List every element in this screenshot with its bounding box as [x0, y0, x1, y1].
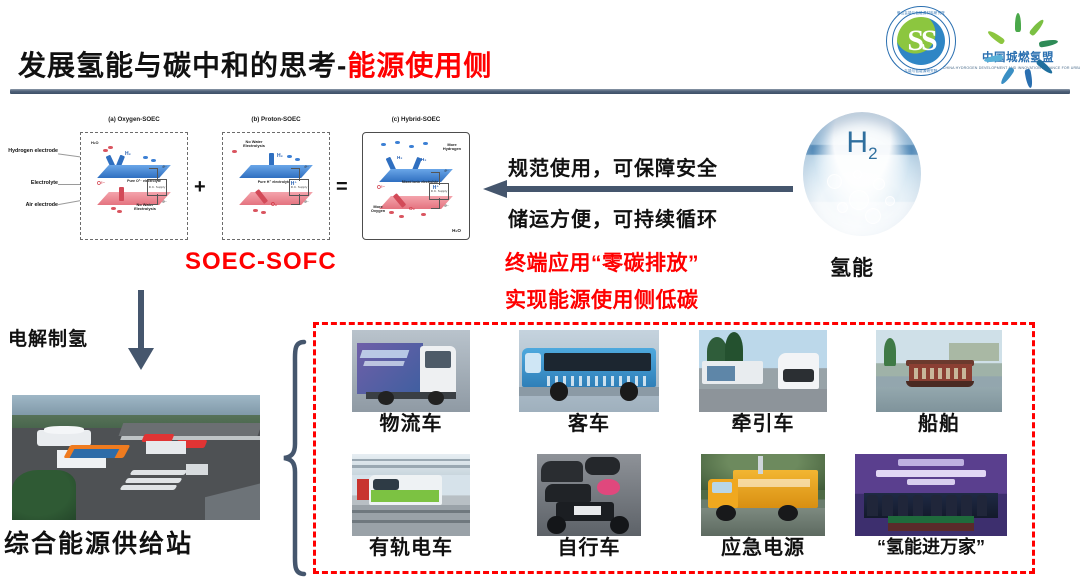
page-title: 发展氢能与碳中和的思考-能源使用侧: [18, 44, 492, 84]
operator-equals: =: [336, 176, 348, 199]
station-caption: 综合能源供给站: [4, 524, 193, 560]
panel-c-note-right: More Hydrogen: [439, 143, 465, 152]
panel-a-h2o-label: H₂O: [91, 141, 99, 145]
slide-root: 佛山氢能与氨能源材料研究院 氢能与氨能源研究院 SS 中国城燃氢盟 CHINA …: [0, 0, 1080, 581]
hydrogen-sphere-icon: H2: [803, 112, 921, 236]
red-callout-1: 终端应用“零碳排放”: [505, 247, 699, 277]
institute-seal-logo: 佛山氢能与氨能源材料研究院 氢能与氨能源研究院 SS: [886, 6, 956, 76]
application-item[interactable]: 船舶: [850, 330, 1028, 434]
operator-plus: +: [194, 176, 206, 199]
page-title-black: 发展氢能与碳中和的思考-: [18, 50, 347, 81]
logistics-truck-image: [352, 330, 470, 412]
soec-panel-a-caption: (a) Oxygen-SOEC: [80, 116, 188, 123]
application-item[interactable]: 物流车: [322, 330, 500, 434]
flow-text-top: 规范使用，可保障安全: [508, 152, 718, 181]
seal-arc-text-top: 佛山氢能与氨能源材料研究院: [886, 10, 956, 15]
application-item[interactable]: 牵引车: [674, 330, 852, 434]
page-title-red: 能源使用侧: [347, 50, 492, 81]
application-item[interactable]: “氢能进万家”: [842, 454, 1020, 556]
leader-line-1: [58, 153, 82, 157]
panel-c-h2o-label: H₂O: [452, 228, 461, 233]
panel-a-electron-top: e⁻: [162, 164, 167, 169]
application-label: 船舶: [850, 414, 1028, 434]
application-item[interactable]: 客车: [500, 330, 678, 434]
panel-b-electron-bottom: e⁻: [304, 199, 309, 204]
arrow-head: [483, 180, 507, 198]
application-item[interactable]: 有轨电车: [322, 454, 500, 558]
electrolysis-label: 电解制氢: [8, 324, 88, 351]
leader-line-3: [58, 200, 82, 205]
hydrogen-symbol: H: [846, 126, 868, 159]
title-divider: [10, 89, 1070, 94]
application-label: “氢能进万家”: [842, 538, 1020, 556]
panel-b-stack: H₂ Pure H⁺ electrolyte H⁺ O₂ D.C. Supply…: [237, 159, 311, 205]
application-label: 牵引车: [674, 414, 852, 434]
panel-b-electron-top: e⁻: [304, 164, 309, 169]
bicycle-image: [537, 454, 641, 536]
soec-label-electrolyte: Electrolyte: [2, 180, 58, 186]
application-label: 有轨电车: [322, 538, 500, 558]
pinwheel-icon: [993, 12, 1043, 52]
down-arrow-shaft: [138, 290, 144, 352]
panel-a-electron-bottom: e⁻: [162, 199, 167, 204]
fuel-cell-bus-image: [519, 330, 659, 412]
hydrogen-boat-image: [876, 330, 1002, 412]
soec-sofc-title: SOEC-SOFC: [185, 248, 337, 276]
application-item[interactable]: 自行车: [500, 454, 678, 558]
signing-ceremony-image: [855, 454, 1007, 536]
seal-arc-text-bottom: 氢能与氨能源研究院: [886, 68, 956, 73]
panel-b-note: No Water Electrolysis: [237, 140, 271, 149]
application-item[interactable]: 应急电源: [674, 454, 852, 558]
application-label: 客车: [500, 414, 678, 434]
panel-c-electron-top: e⁻: [444, 168, 449, 173]
red-callout-2: 实现能源使用侧低碳: [505, 284, 699, 314]
soec-panel-c-caption: (c) Hybrid-SOEC: [362, 116, 470, 123]
arrow-shaft: [505, 186, 793, 192]
hydrogen-caption: 氢能: [830, 252, 874, 282]
application-label: 自行车: [500, 538, 678, 558]
energy-station-image: [12, 395, 260, 520]
seal-s-monogram: SS: [897, 17, 945, 65]
curly-brace-icon: [282, 338, 308, 578]
flow-text-bottom: 储运方便，可持续循环: [508, 203, 718, 232]
emergency-power-truck-image: [701, 454, 825, 536]
hydrogen-formula: H2: [803, 126, 921, 164]
logo-group: 佛山氢能与氨能源材料研究院 氢能与氨能源研究院 SS 中国城燃氢盟 CHINA …: [886, 4, 1072, 78]
curly-brace-svg: [282, 338, 308, 578]
application-label: 应急电源: [674, 538, 852, 558]
soec-figure: Hydrogen electrode Electrolyte Air elect…: [62, 114, 462, 242]
alliance-logo: 中国城燃氢盟 CHINA HYDROGEN DEVELOPMENT AND IN…: [964, 6, 1072, 76]
panel-c-note-left: More Oxygen: [366, 205, 390, 214]
tractor-truck-image: [699, 330, 827, 412]
leader-line-2: [58, 184, 82, 185]
soec-panel-c: More Hydrogen H₂ H₂ O²⁻ Mixed ionic elec…: [362, 132, 470, 240]
panel-a-stack: H₂ O²⁻ Pure O²⁻ electrolyte No Water Ele…: [95, 159, 169, 205]
tram-image: [352, 454, 470, 536]
soec-panel-a: H₂O H₂ O²⁻ Pure O²⁻ electrolyte No Water…: [80, 132, 188, 240]
panel-c-stack: H₂ H₂ O²⁻ Mixed ionic electrolyte H⁺ O₂ …: [377, 163, 451, 209]
down-arrow-head: [128, 348, 154, 370]
application-label: 物流车: [322, 414, 500, 434]
left-arrow-icon: [483, 180, 793, 198]
hydrogen-subscript: 2: [868, 144, 877, 163]
soec-label-hydrogen-electrode: Hydrogen electrode: [2, 148, 58, 154]
applications-grid: 物流车 客车 牵引车: [318, 330, 1030, 570]
panel-c-electron-bottom: e⁻: [444, 203, 449, 208]
soec-panel-b-caption: (b) Proton-SOEC: [222, 116, 330, 123]
soec-panel-b: No Water Electrolysis H₂ Pure H⁺ electro…: [222, 132, 330, 240]
soec-label-air-electrode: Air electrode: [2, 202, 58, 208]
